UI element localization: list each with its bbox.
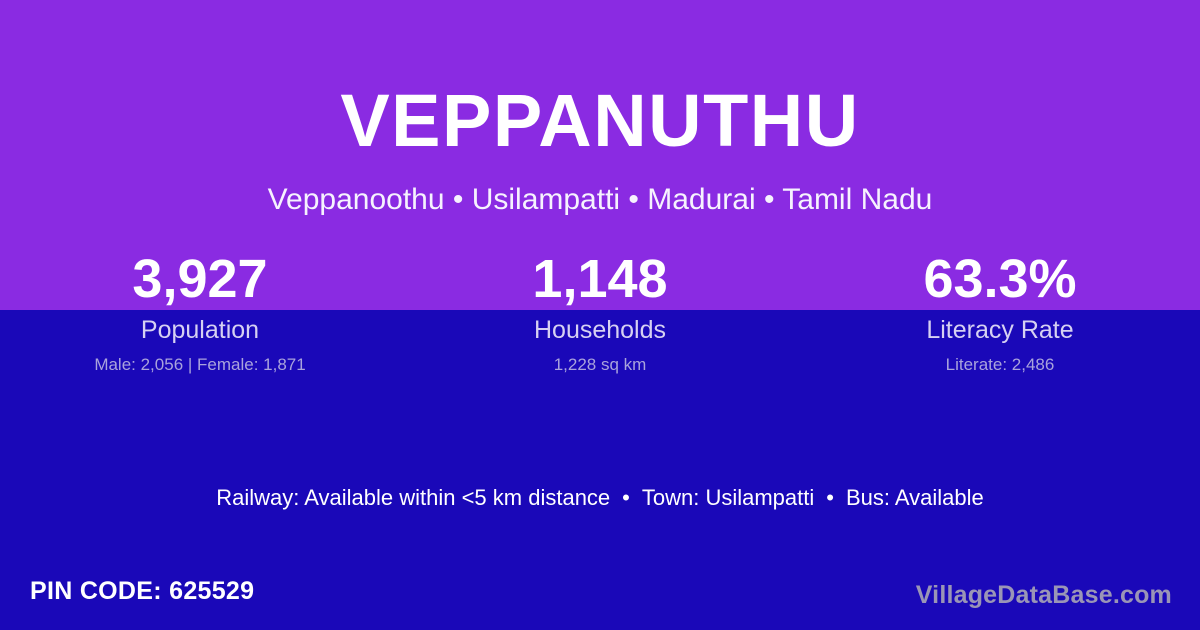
facility-separator-2-icon: •: [814, 484, 846, 512]
stat-literacy-rate-value: 63.3%: [800, 248, 1200, 310]
statistics-row: 3,927 Population Male: 2,056 | Female: 1…: [0, 248, 1200, 375]
stat-population-label: Population: [0, 315, 400, 345]
facility-bus: Bus: Available: [846, 485, 984, 510]
facilities-line: Railway: Available within <5 km distance…: [0, 484, 1200, 512]
facility-nearest-town: Town: Usilampatti: [642, 485, 814, 510]
site-brand: VillageDataBase.com: [916, 579, 1172, 611]
stat-population-value: 3,927: [0, 248, 400, 310]
location-breadcrumb: Veppanoothu • Usilampatti • Madurai • Ta…: [0, 182, 1200, 218]
pin-code: PIN CODE: 625529: [30, 575, 254, 607]
stat-households: 1,148 Households 1,228 sq km: [400, 248, 800, 375]
stat-population-breakdown: Male: 2,056 | Female: 1,871: [0, 354, 400, 375]
stat-households-label: Households: [400, 315, 800, 345]
stat-literacy-rate-count: Literate: 2,486: [800, 354, 1200, 375]
village-info-card: VEPPANUTHU Veppanoothu • Usilampatti • M…: [0, 0, 1200, 630]
stat-literacy-rate: 63.3% Literacy Rate Literate: 2,486: [800, 248, 1200, 375]
facility-separator-1-icon: •: [610, 484, 642, 512]
stat-households-value: 1,148: [400, 248, 800, 310]
stat-literacy-rate-label: Literacy Rate: [800, 315, 1200, 345]
page-title: VEPPANUTHU: [0, 82, 1200, 160]
facility-railway: Railway: Available within <5 km distance: [216, 485, 610, 510]
stat-households-area: 1,228 sq km: [400, 354, 800, 375]
stat-population: 3,927 Population Male: 2,056 | Female: 1…: [0, 248, 400, 375]
